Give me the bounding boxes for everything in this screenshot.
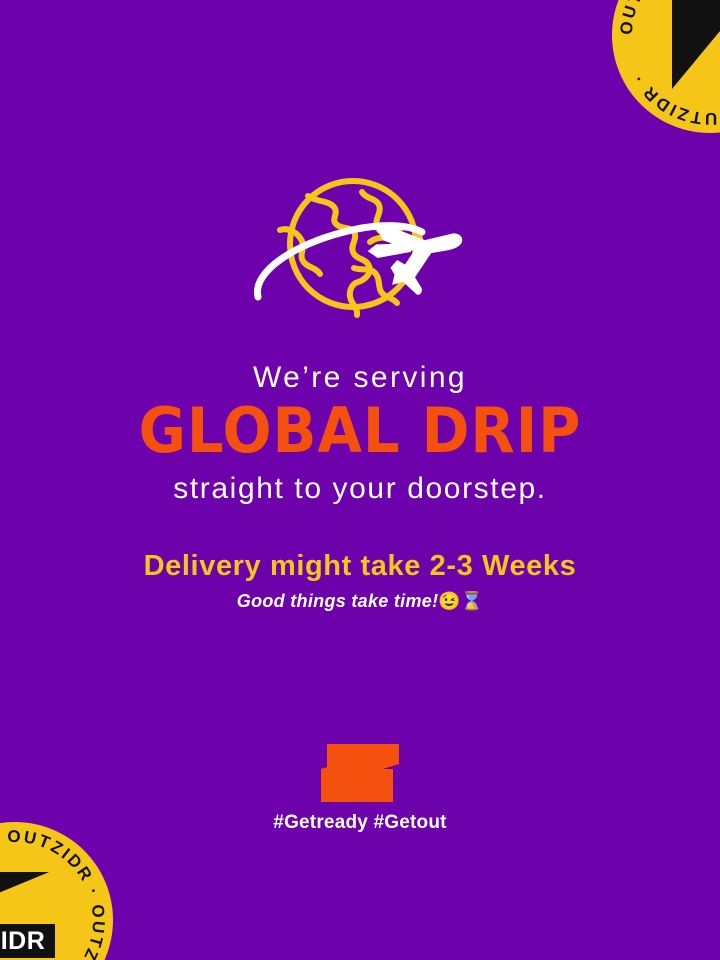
delivery-reassurance: Good things take time!😉⌛ (0, 591, 720, 613)
badge-wordmark: OUTZIDR (0, 924, 55, 958)
z-monogram-logo[interactable] (321, 744, 399, 802)
badge-monogram (0, 872, 49, 920)
globe-airplane-icon (242, 172, 478, 322)
page-title: GLOBAL DRIP (25, 400, 695, 462)
headline-block: We’re serving GLOBAL DRIP straight to yo… (0, 362, 720, 613)
eyebrow-text: We’re serving (0, 362, 720, 394)
outzidr-stamp-bottom-left[interactable]: OUTZIDR · OUTZIDR · OUTZIDR · OUTZIDR · … (0, 820, 115, 960)
delivery-notice: Delivery might take 2-3 Weeks (0, 551, 720, 583)
subtitle-text: straight to your doorstep. (0, 472, 720, 505)
wink-hourglass-emoji: 😉⌛ (438, 591, 483, 611)
promo-poster: OUTZIDR · OUTZIDR · OUTZIDR · OUTZIDR · (0, 0, 720, 960)
svg-text:OUTZIDR: OUTZIDR (0, 927, 45, 955)
reassurance-text: Good things take time! (237, 591, 439, 611)
globe-airplane-emblem (0, 172, 720, 322)
outzidr-stamp-top-right[interactable]: OUTZIDR · OUTZIDR · OUTZIDR · OUTZIDR · (610, 0, 720, 135)
